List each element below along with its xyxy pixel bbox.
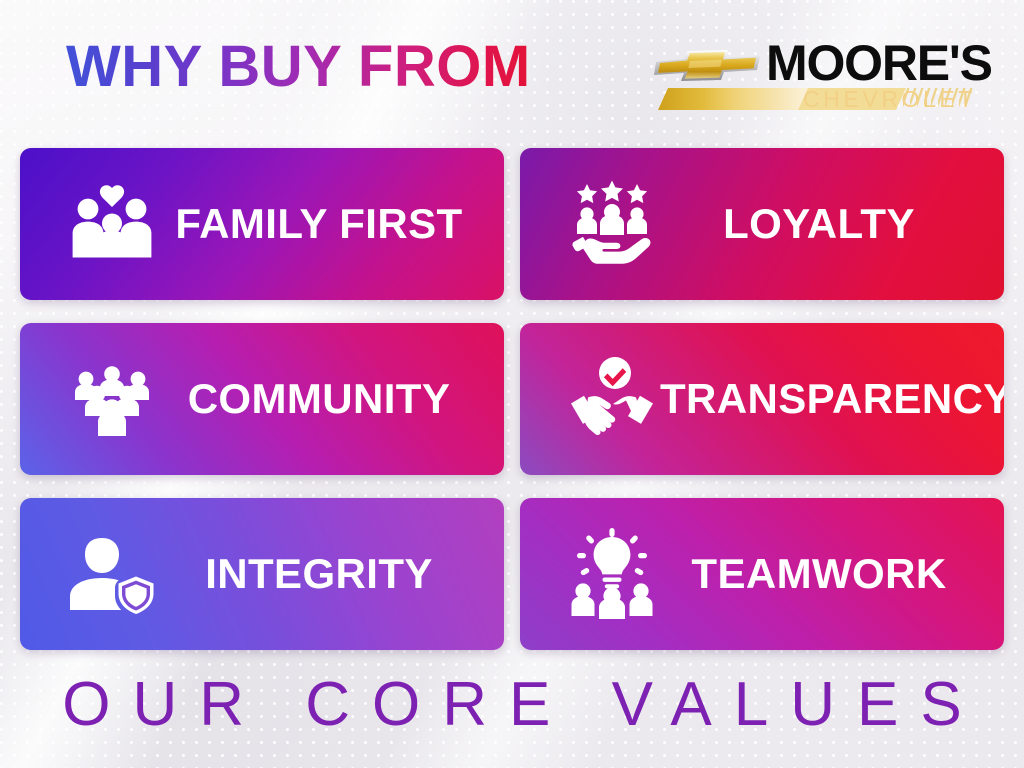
core-values-tagline: OUR CORE VALUES	[0, 670, 1024, 740]
value-card-loyalty[interactable]: LOYALTY	[520, 148, 1004, 300]
core-values-grid: FAMILY FIRST LOYALTY	[20, 148, 1004, 650]
value-card-teamwork[interactable]: TEAMWORK	[520, 498, 1004, 650]
lightbulb-people-icon	[564, 526, 660, 622]
handshake-check-icon	[564, 351, 660, 447]
people-group-icon	[64, 351, 160, 447]
page-title: WHY BUY FROM	[66, 36, 531, 98]
value-card-integrity[interactable]: INTEGRITY	[20, 498, 504, 650]
brand-name: CHEVROLET	[803, 86, 976, 112]
value-card-label: INTEGRITY	[160, 551, 504, 597]
hand-stars-people-icon	[564, 176, 660, 272]
dealer-logo: MOORE'S	[648, 30, 978, 116]
value-card-community[interactable]: COMMUNITY	[20, 323, 504, 475]
value-card-label: LOYALTY	[660, 201, 1004, 247]
value-card-transparency[interactable]: TRANSPARENCY	[520, 323, 1004, 475]
person-shield-icon	[64, 526, 160, 622]
value-card-label: COMMUNITY	[160, 376, 504, 422]
value-card-label: FAMILY FIRST	[160, 201, 504, 247]
header: WHY BUY FROM	[0, 0, 1024, 140]
value-card-label: TEAMWORK	[660, 551, 1004, 597]
chevrolet-bowtie-icon	[654, 44, 764, 86]
dealer-name: MOORE'S	[766, 36, 992, 90]
value-card-label: TRANSPARENCY	[660, 376, 1004, 422]
footer: OUR CORE VALUES	[0, 660, 1024, 768]
poster-canvas: WHY BUY FROM	[0, 0, 1024, 768]
value-card-family-first[interactable]: FAMILY FIRST	[20, 148, 504, 300]
family-heart-icon	[64, 176, 160, 272]
